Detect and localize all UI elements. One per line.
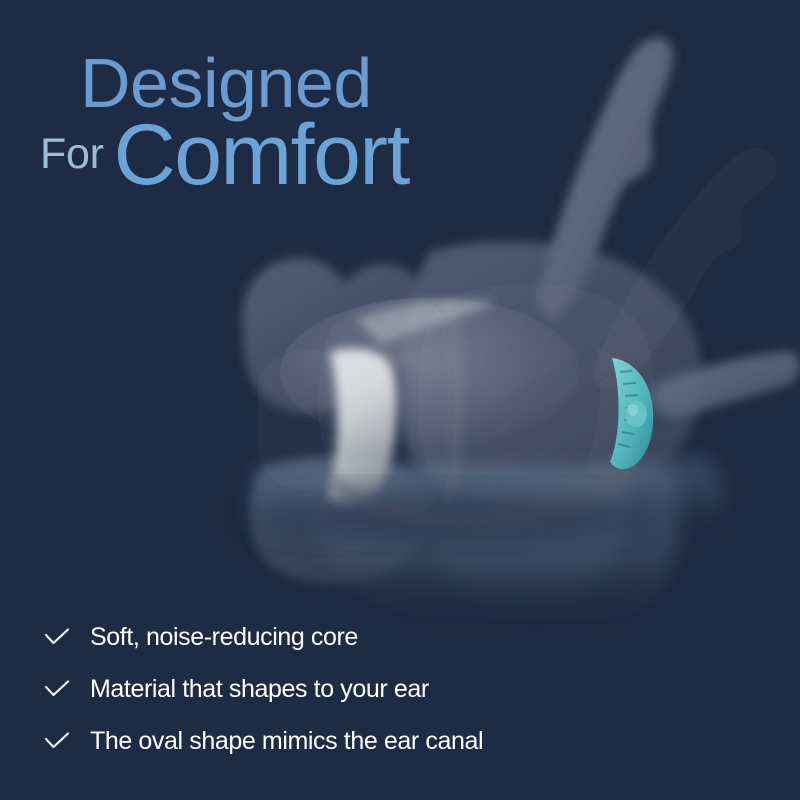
feature-item: Soft, noise-reducing core: [40, 612, 600, 662]
feature-label: Material that shapes to your ear: [90, 677, 429, 702]
check-icon: [40, 732, 90, 750]
feature-item: Material that shapes to your ear: [40, 664, 600, 714]
check-icon: [40, 680, 90, 698]
feature-list: Soft, noise-reducing core Material that …: [40, 612, 600, 768]
check-icon: [40, 628, 90, 646]
feature-label: The oval shape mimics the ear canal: [90, 729, 483, 754]
feature-label: Soft, noise-reducing core: [90, 625, 358, 650]
product-marketing-card: Designed ForComfort Soft, noise-reducing…: [0, 0, 800, 800]
feature-item: The oval shape mimics the ear canal: [40, 716, 600, 766]
